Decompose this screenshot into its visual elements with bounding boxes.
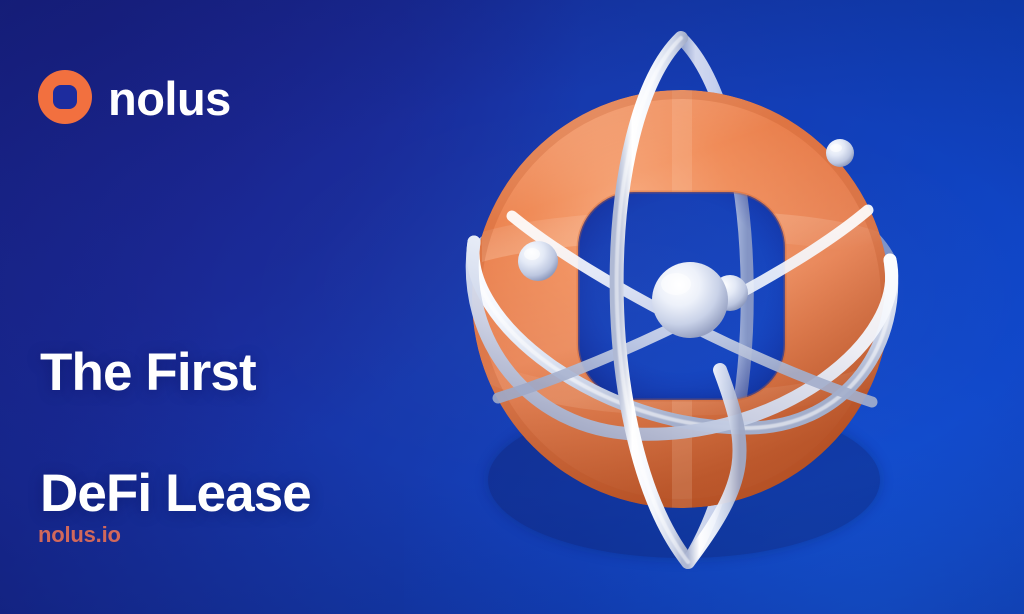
hero-illustration <box>420 10 980 604</box>
headline-line-1: The First <box>40 343 311 403</box>
headline-line-2: DeFi Lease <box>40 464 311 524</box>
nolus-promo-banner: nolus The First DeFi Lease nolus.io <box>0 0 1024 614</box>
nolus-atom-graphic <box>420 10 980 604</box>
electron-sphere-left <box>518 241 558 281</box>
brand-logo[interactable]: nolus <box>38 70 231 124</box>
nucleus-sphere <box>652 262 728 338</box>
nolus-logo-mark-icon <box>38 70 92 124</box>
website-url-link[interactable]: nolus.io <box>38 522 121 548</box>
logo-inner-square <box>53 85 77 109</box>
brand-wordmark: nolus <box>108 75 231 122</box>
electron-sphere-top-right <box>826 139 854 167</box>
